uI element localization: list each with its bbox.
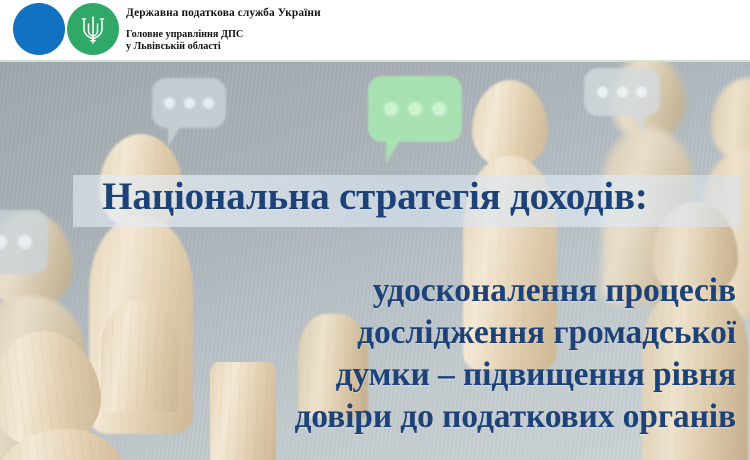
header-text-block: Державна податкова служба України Головн… bbox=[126, 6, 436, 53]
organization-name: Державна податкова служба України bbox=[126, 6, 436, 20]
site-header: Державна податкова служба України Головн… bbox=[0, 0, 750, 62]
speech-bubble-dots bbox=[152, 98, 226, 109]
page-title: Національна стратегія доходів: bbox=[0, 172, 750, 222]
background-photo: Національна стратегія доходів: удосконал… bbox=[0, 62, 750, 460]
subtitle-line-3: думки – підвищення рівня bbox=[0, 354, 736, 396]
header-divider bbox=[0, 60, 750, 62]
subtitle-line-1: удосконалення процесів bbox=[0, 270, 736, 312]
speech-bubble-dots bbox=[584, 87, 660, 98]
speech-bubble-gray-right bbox=[584, 68, 660, 116]
speech-bubble-dots bbox=[368, 102, 462, 116]
subtitle-line-4: довіри до податкових органів bbox=[0, 396, 736, 438]
department-name: Головне управління ДПС у Львівській обла… bbox=[126, 29, 436, 53]
agency-logo[interactable] bbox=[13, 3, 119, 55]
ukraine-trident-icon bbox=[80, 14, 106, 46]
department-line-2: у Львівській області bbox=[126, 41, 436, 53]
speech-bubble-green bbox=[368, 76, 462, 142]
department-line-1: Головне управління ДПС bbox=[126, 29, 436, 41]
tax-service-banner: Національна стратегія доходів: удосконал… bbox=[0, 0, 750, 460]
page-subtitle: удосконалення процесів дослідження грома… bbox=[0, 270, 750, 438]
speech-bubble-dots bbox=[0, 235, 48, 249]
speech-bubble-gray-top bbox=[152, 78, 226, 128]
blue-circle-icon bbox=[13, 3, 65, 55]
subtitle-line-2: дослідження громадської bbox=[0, 312, 736, 354]
